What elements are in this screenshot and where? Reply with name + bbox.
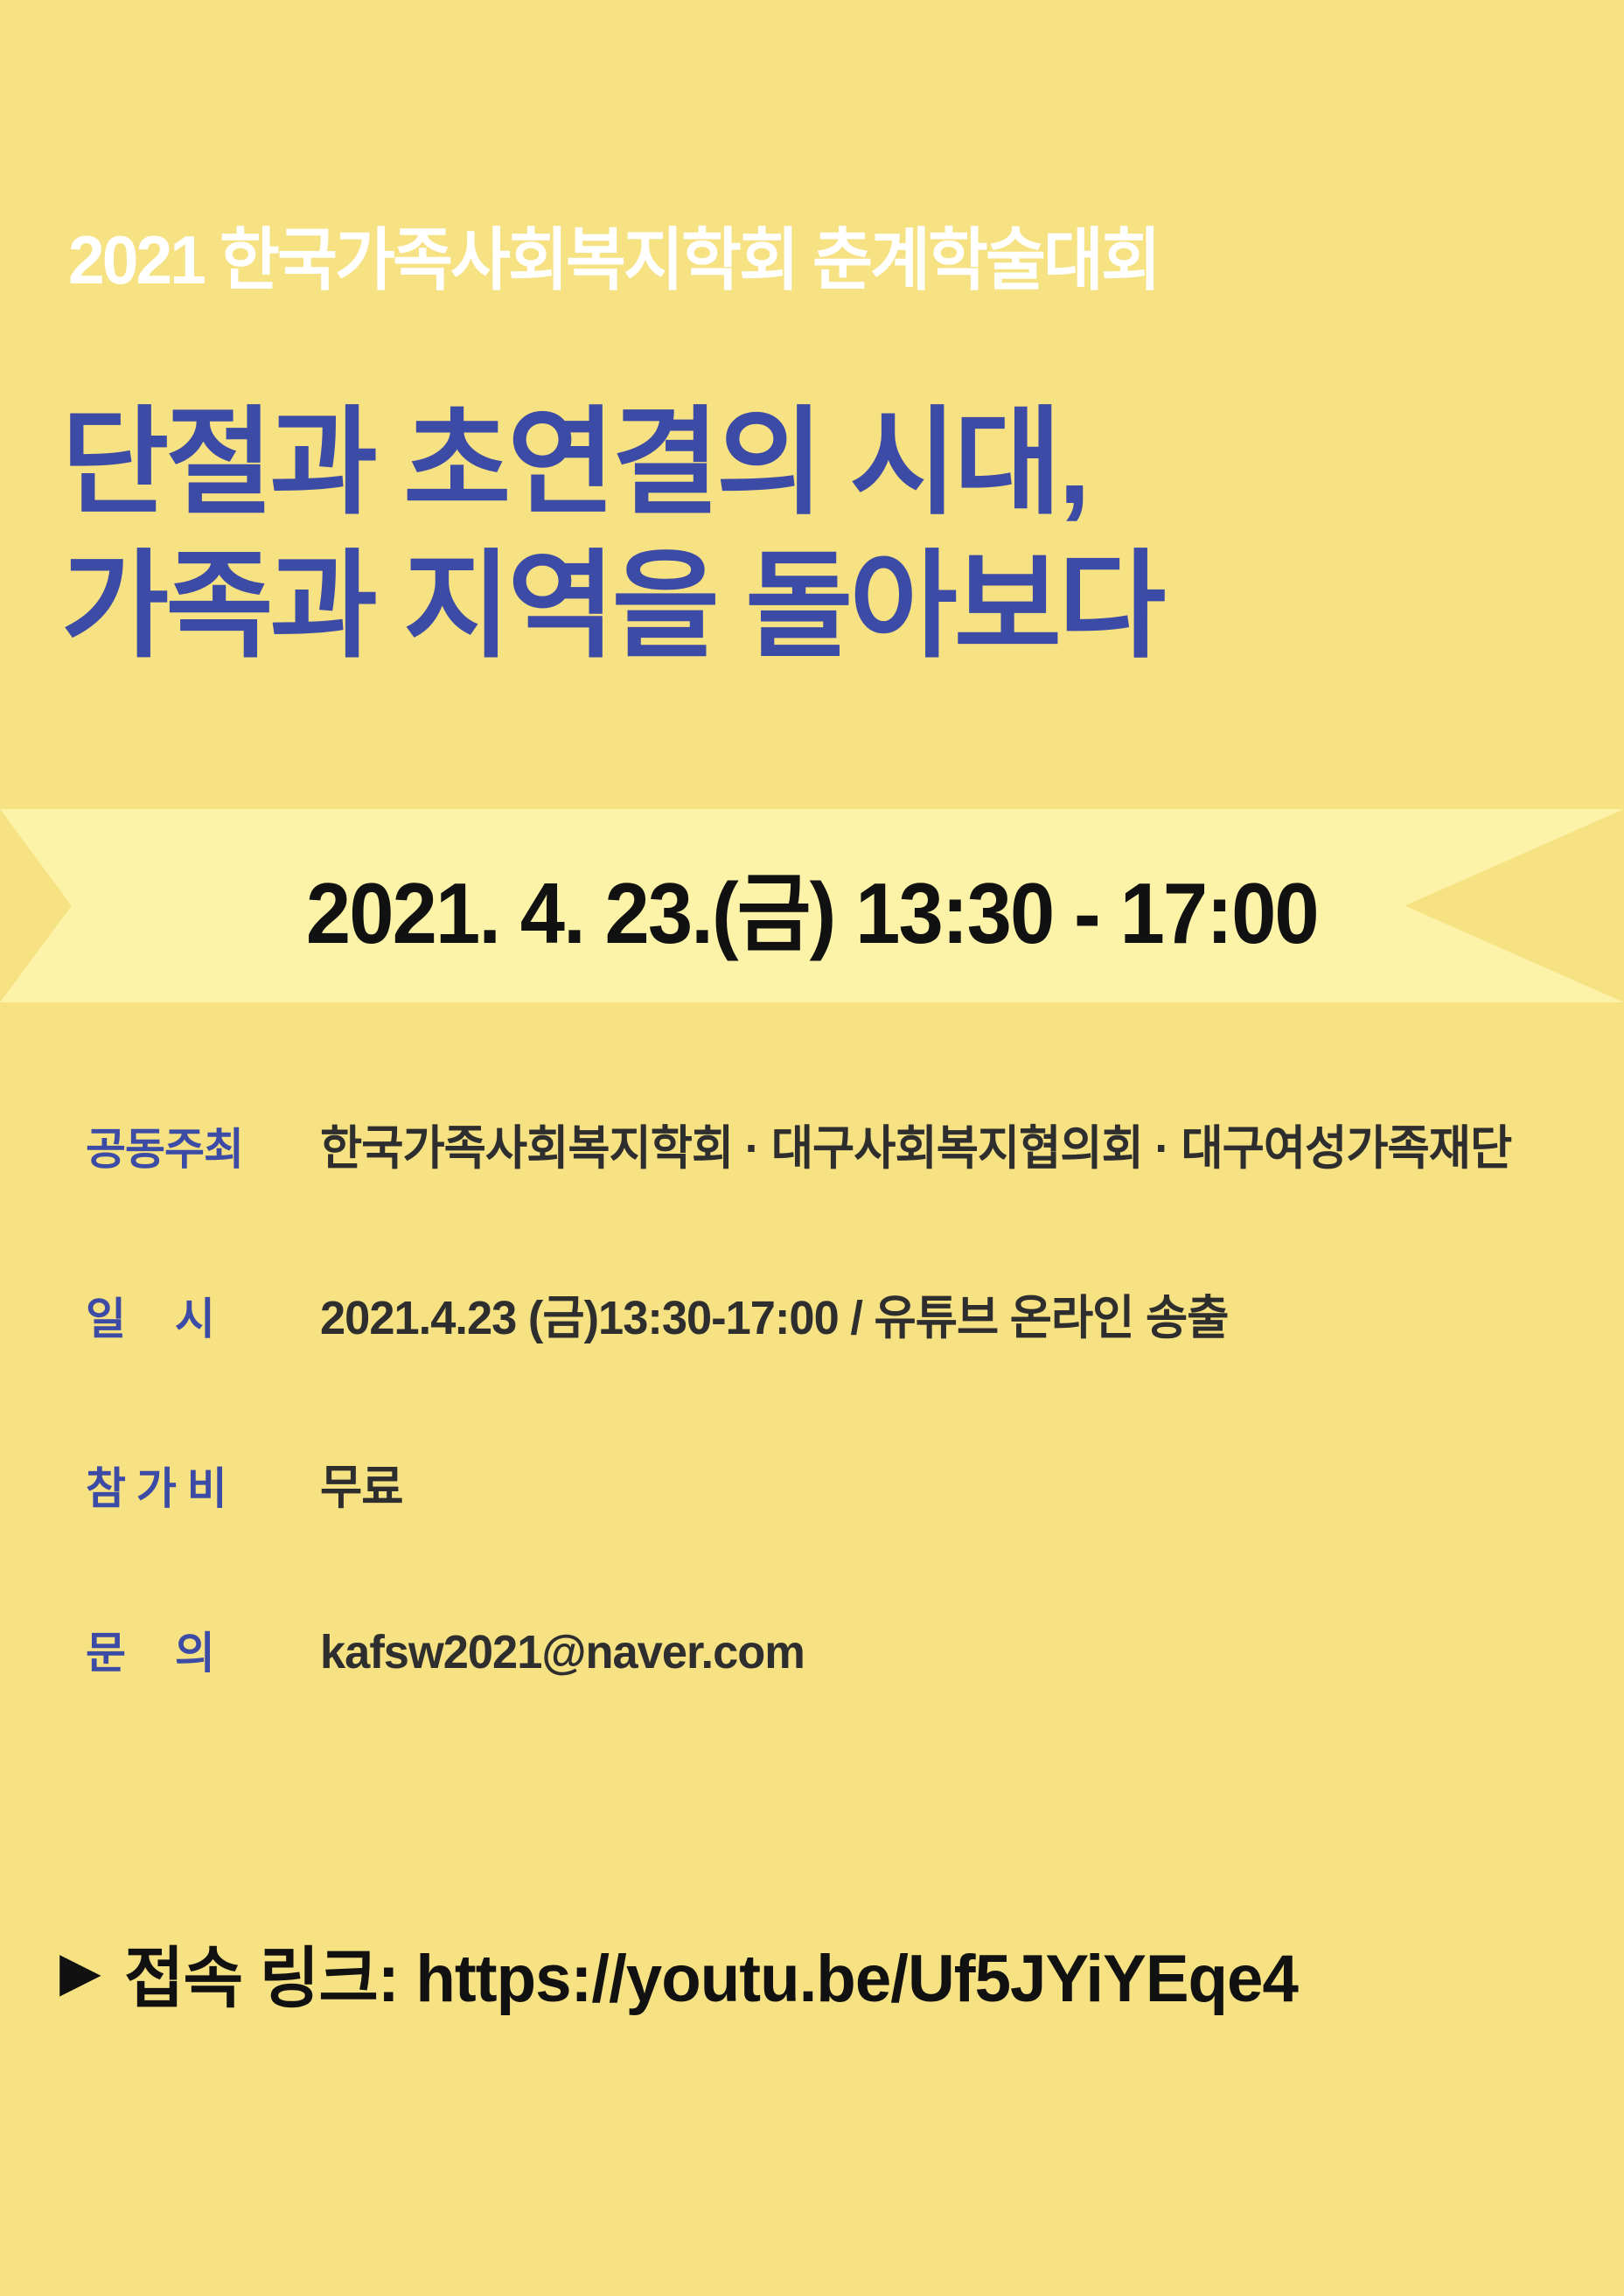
info-value-cohosts: 한국가족사회복지학회 · 대구사회복지협의회 · 대구여성가족재단 [320, 1109, 1511, 1178]
info-row-datetime: 일 시 2021.4.23 (금)13:30-17:00 / 유튜브 온라인 송… [86, 1279, 1590, 1370]
info-row-cohosts: 공동주최 한국가족사회복지학회 · 대구사회복지협의회 · 대구여성가족재단 [86, 1109, 1590, 1200]
play-triangle-icon: ▶ [59, 1945, 101, 1999]
poster-info-list: 공동주최 한국가족사회복지학회 · 대구사회복지협의회 · 대구여성가족재단 일… [86, 1109, 1590, 1709]
title-line-2: 가족과 지역을 돌아보다 [61, 541, 1162, 673]
info-label-contact: 문 의 [86, 1618, 320, 1681]
info-label-fee: 참 가 비 [86, 1454, 320, 1517]
ribbon-date-time-text: 2021. 4. 23.(금) 13:30 - 17:00 [306, 844, 1318, 968]
info-value-contact-email: kafsw2021@naver.com [320, 1625, 805, 1679]
poster-eyebrow-title: 2021 한국가족사회복지학회 춘계학술대회 [68, 226, 1159, 294]
title-line-1: 단절과 초연결의 시대, [61, 398, 1162, 529]
info-row-contact: 문 의 kafsw2021@naver.com [86, 1618, 1590, 1709]
poster-main-title: 단절과 초연결의 시대, 가족과 지역을 돌아보다 [61, 398, 1162, 673]
info-label-cohosts: 공동주최 [86, 1114, 320, 1177]
date-ribbon: 2021. 4. 23.(금) 13:30 - 17:00 [0, 809, 1624, 1002]
access-link-row[interactable]: ▶ 접속 링크: https://youtu.be/Uf5JYiYEqe4 [59, 1924, 1321, 2020]
access-link-text[interactable]: 접속 링크: https://youtu.be/Uf5JYiYEqe4 [124, 1924, 1298, 2020]
info-label-datetime: 일 시 [86, 1284, 320, 1347]
conference-poster: 2021 한국가족사회복지학회 춘계학술대회 단절과 초연결의 시대, 가족과 … [0, 0, 1624, 2296]
info-row-fee: 참 가 비 무료 [86, 1448, 1590, 1539]
info-value-datetime: 2021.4.23 (금)13:30-17:00 / 유튜브 온라인 송출 [320, 1279, 1228, 1348]
info-value-fee: 무료 [320, 1448, 402, 1518]
